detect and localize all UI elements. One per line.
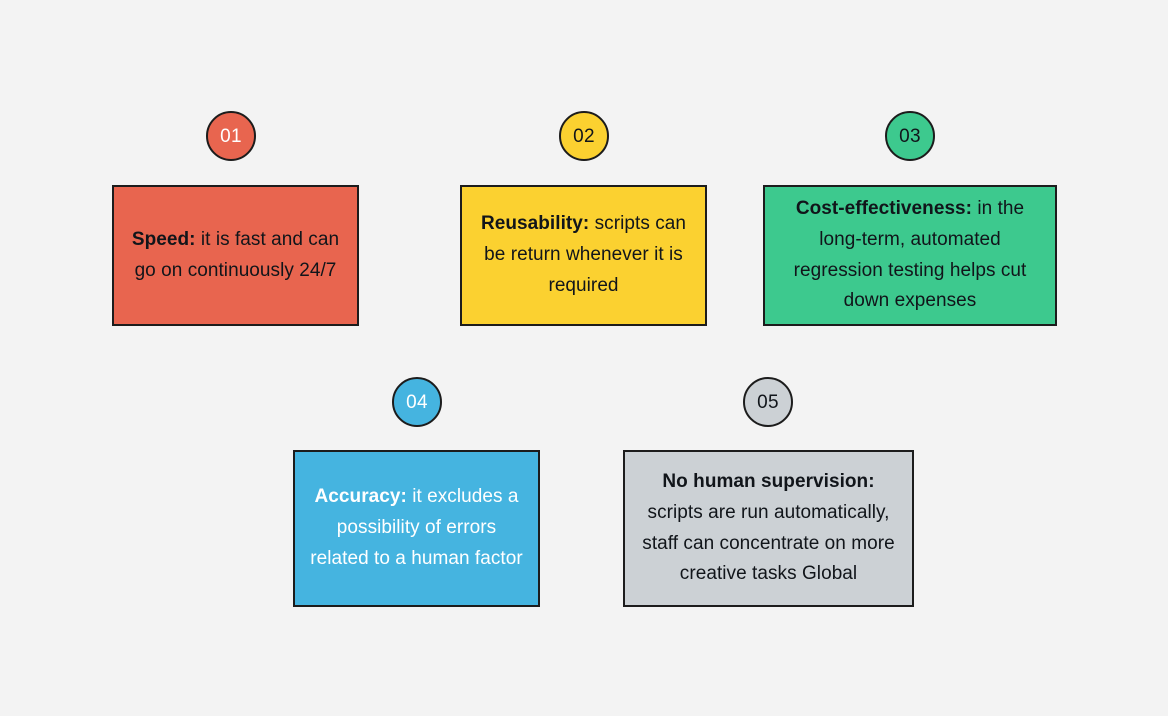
benefit-card-lead: No human supervision:: [662, 471, 874, 492]
benefit-card-03[interactable]: Cost-effectiveness: in the long-term, au…: [763, 185, 1057, 326]
benefit-card-text: Cost-effectiveness: in the long-term, au…: [779, 194, 1041, 317]
infographic-canvas: 01 Speed: it is fast and can go on conti…: [0, 0, 1168, 716]
benefit-card-lead: Reusability:: [481, 213, 589, 234]
benefit-card-lead: Accuracy:: [315, 486, 407, 507]
benefit-card-04[interactable]: Accuracy: it excludes a possibility of e…: [293, 450, 540, 607]
step-badge-02[interactable]: 02: [559, 111, 609, 161]
step-badge-05[interactable]: 05: [743, 377, 793, 427]
benefit-card-05[interactable]: No human supervision: scripts are run au…: [623, 450, 914, 607]
benefit-card-text: Speed: it is fast and can go on continuo…: [128, 225, 343, 287]
benefit-card-lead: Cost-effectiveness:: [796, 198, 972, 219]
step-badge-04[interactable]: 04: [392, 377, 442, 427]
step-badge-number: 03: [899, 127, 921, 146]
benefit-card-text: Accuracy: it excludes a possibility of e…: [309, 482, 524, 574]
benefit-card-text: Reusability: scripts can be return whene…: [476, 209, 691, 301]
benefit-card-02[interactable]: Reusability: scripts can be return whene…: [460, 185, 707, 326]
benefit-card-body: scripts are run automatically, staff can…: [642, 502, 894, 585]
benefit-card-lead: Speed:: [132, 229, 196, 250]
benefit-card-text: No human supervision: scripts are run au…: [639, 467, 898, 590]
step-badge-number: 04: [406, 393, 428, 412]
step-badge-number: 05: [757, 393, 779, 412]
benefit-card-01[interactable]: Speed: it is fast and can go on continuo…: [112, 185, 359, 326]
step-badge-number: 02: [573, 127, 595, 146]
step-badge-01[interactable]: 01: [206, 111, 256, 161]
step-badge-number: 01: [220, 127, 242, 146]
step-badge-03[interactable]: 03: [885, 111, 935, 161]
